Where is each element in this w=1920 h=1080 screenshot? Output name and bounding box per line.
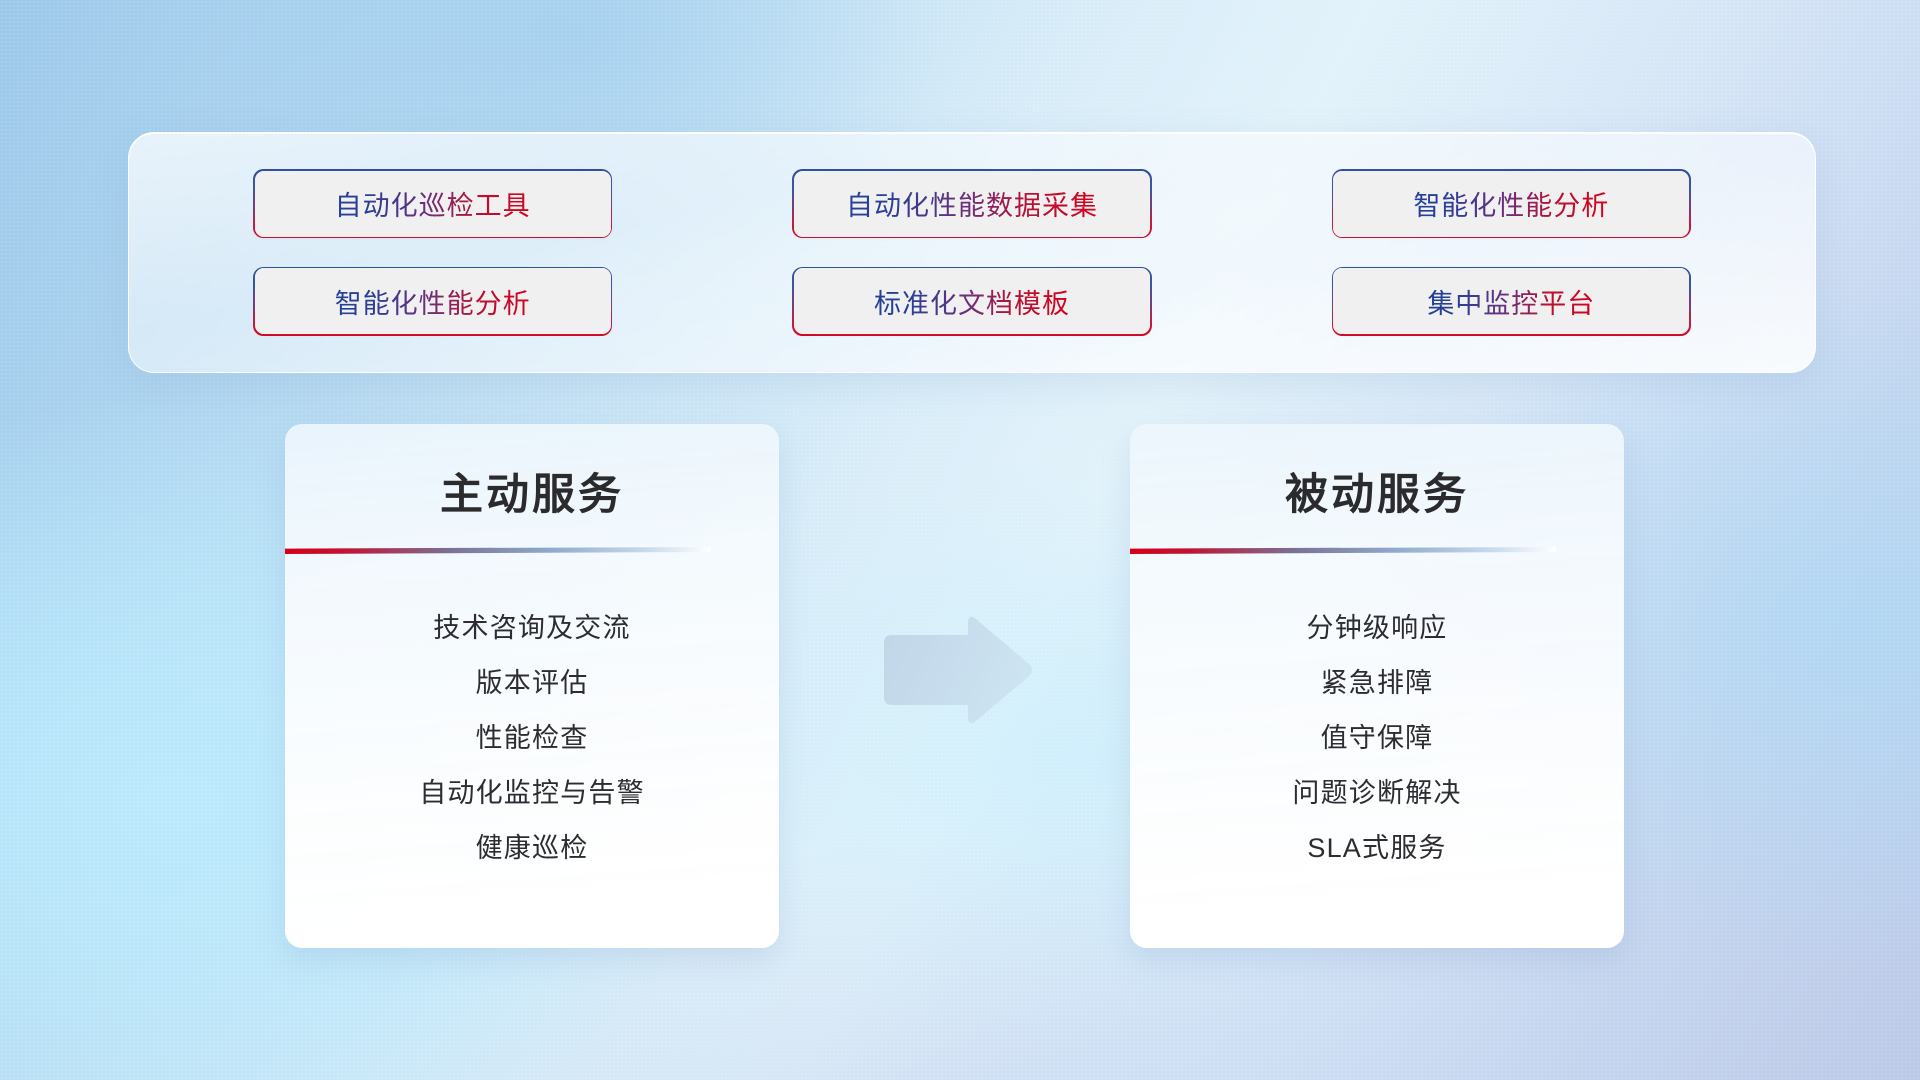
service-card-proactive-title: 主动服务 (285, 460, 779, 522)
capability-tag-3-label: 智能化性能分析 (335, 282, 531, 321)
list-item: 版本评估 (285, 656, 779, 711)
capability-tag-0[interactable]: 自动化巡检工具 (255, 171, 611, 237)
list-item: 问题诊断解决 (1130, 766, 1624, 821)
capability-tag-1-label: 自动化性能数据采集 (846, 184, 1098, 223)
service-card-reactive-title: 被动服务 (1130, 460, 1624, 522)
service-card-reactive-list: 分钟级响应 紧急排障 值守保障 问题诊断解决 SLA式服务 (1130, 601, 1624, 876)
capability-tag-4[interactable]: 标准化文档模板 (794, 268, 1150, 334)
card-divider-proactive (285, 547, 711, 554)
list-item: 自动化监控与告警 (285, 766, 779, 821)
list-item: 值守保障 (1130, 711, 1624, 766)
capability-tag-3[interactable]: 智能化性能分析 (255, 268, 611, 334)
capability-tag-5-label: 集中监控平台 (1427, 282, 1595, 321)
list-item: 性能检查 (285, 711, 779, 766)
list-item: 健康巡检 (285, 821, 779, 876)
capability-tag-5[interactable]: 集中监控平台 (1333, 268, 1689, 334)
list-item: 紧急排障 (1130, 656, 1624, 711)
capability-tag-2-label: 智能化性能分析 (1413, 184, 1609, 223)
card-divider-reactive (1130, 547, 1556, 554)
capability-tag-2[interactable]: 智能化性能分析 (1333, 171, 1689, 237)
capability-tag-1[interactable]: 自动化性能数据采集 (794, 171, 1150, 237)
list-item: SLA式服务 (1130, 821, 1624, 876)
service-card-proactive-list: 技术咨询及交流 版本评估 性能检查 自动化监控与告警 健康巡检 (285, 601, 779, 876)
service-card-proactive: 主动服务 技术咨询及交流 版本评估 性能检查 自动化监控与告警 健康巡检 (285, 424, 779, 948)
arrow-right-icon (876, 613, 1036, 728)
service-card-reactive: 被动服务 分钟级响应 紧急排障 值守保障 问题诊断解决 SLA式服务 (1130, 424, 1624, 948)
capability-tag-panel: 自动化巡检工具 自动化性能数据采集 智能化性能分析 智能化性能分析 标准化文档模… (128, 132, 1816, 373)
list-item: 分钟级响应 (1130, 601, 1624, 656)
list-item: 技术咨询及交流 (285, 601, 779, 656)
capability-tag-4-label: 标准化文档模板 (874, 282, 1070, 321)
capability-tag-0-label: 自动化巡检工具 (335, 184, 531, 223)
